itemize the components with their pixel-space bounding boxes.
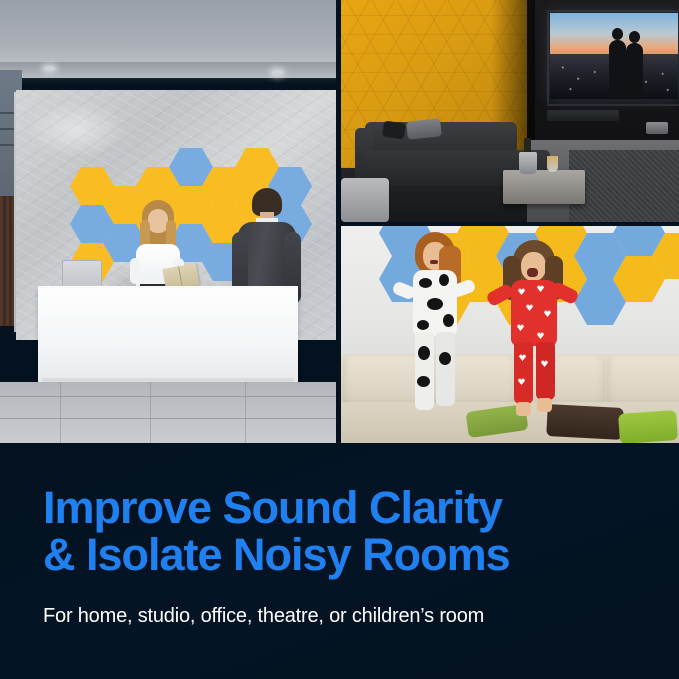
cow-spot: [427, 298, 443, 310]
arm: [130, 258, 140, 284]
ceiling-light-icon: [272, 70, 283, 75]
bare-foot: [537, 398, 552, 412]
bare-foot: [516, 402, 531, 416]
leg: [536, 342, 555, 400]
headline-line-1: Improve Sound Clarity: [43, 482, 502, 533]
leg: [436, 332, 455, 406]
reception-desk: [38, 288, 298, 384]
laptop-screen: [62, 260, 102, 288]
ceiling-light-icon: [44, 66, 55, 71]
cow-spot: [439, 274, 449, 286]
receptionist: [128, 200, 188, 295]
face: [148, 209, 168, 233]
heart-pattern: [518, 378, 525, 385]
silhouette-head: [629, 31, 640, 43]
tile-line: [0, 396, 336, 397]
cow-spot: [419, 278, 432, 288]
silhouette-head: [612, 28, 623, 40]
photo-office-reception: [0, 0, 336, 443]
heart-pattern: [544, 310, 551, 317]
cow-spot: [417, 320, 429, 330]
cushion: [406, 118, 442, 139]
heart-pattern: [517, 324, 524, 331]
headline-line-2: & Isolate Noisy Rooms: [43, 531, 643, 578]
silhouette-body: [609, 40, 626, 98]
cow-spot: [443, 314, 454, 327]
photo-collage: [0, 0, 679, 445]
screen-couple-silhouette: [609, 28, 649, 98]
heart-pattern: [537, 285, 544, 292]
child-cow-pajamas: [393, 232, 483, 422]
photo-childrens-room: [341, 226, 679, 443]
tiled-floor: [0, 382, 336, 443]
wine-glass: [547, 156, 558, 172]
leg: [514, 342, 533, 404]
headline: Improve Sound Clarity & Isolate Noisy Ro…: [43, 484, 643, 578]
silhouette-body: [626, 43, 643, 98]
child-heart-pajamas: [489, 240, 585, 422]
projector: [646, 122, 668, 134]
product-marketing-banner: Improve Sound Clarity & Isolate Noisy Ro…: [0, 0, 679, 679]
open-mouth: [527, 268, 538, 277]
tile-line: [0, 418, 336, 419]
heart-pattern: [519, 354, 526, 361]
marble-coffee-table: [503, 170, 585, 204]
cow-spot: [417, 376, 430, 387]
cushion: [382, 121, 406, 140]
shag-rug: [569, 150, 679, 222]
tile-line: [150, 382, 151, 443]
cushion: [618, 410, 678, 443]
heart-pattern: [526, 304, 533, 311]
leg: [415, 332, 434, 410]
tile-line: [245, 382, 246, 443]
projection-screen: [550, 13, 678, 99]
heart-pattern: [518, 288, 525, 295]
sofa-cushion: [607, 356, 679, 408]
cow-spot: [418, 346, 430, 360]
champagne-bucket: [519, 152, 537, 174]
tile-line: [60, 382, 61, 443]
ottoman: [341, 178, 389, 222]
media-console: [547, 110, 619, 121]
cow-spot: [439, 352, 451, 365]
photo-home-theater: [341, 0, 679, 222]
mouth: [430, 260, 438, 264]
heart-pattern: [537, 332, 544, 339]
pajama-top: [413, 270, 457, 336]
heart-pattern: [541, 360, 548, 367]
subtitle: For home, studio, office, theatre, or ch…: [43, 604, 643, 629]
